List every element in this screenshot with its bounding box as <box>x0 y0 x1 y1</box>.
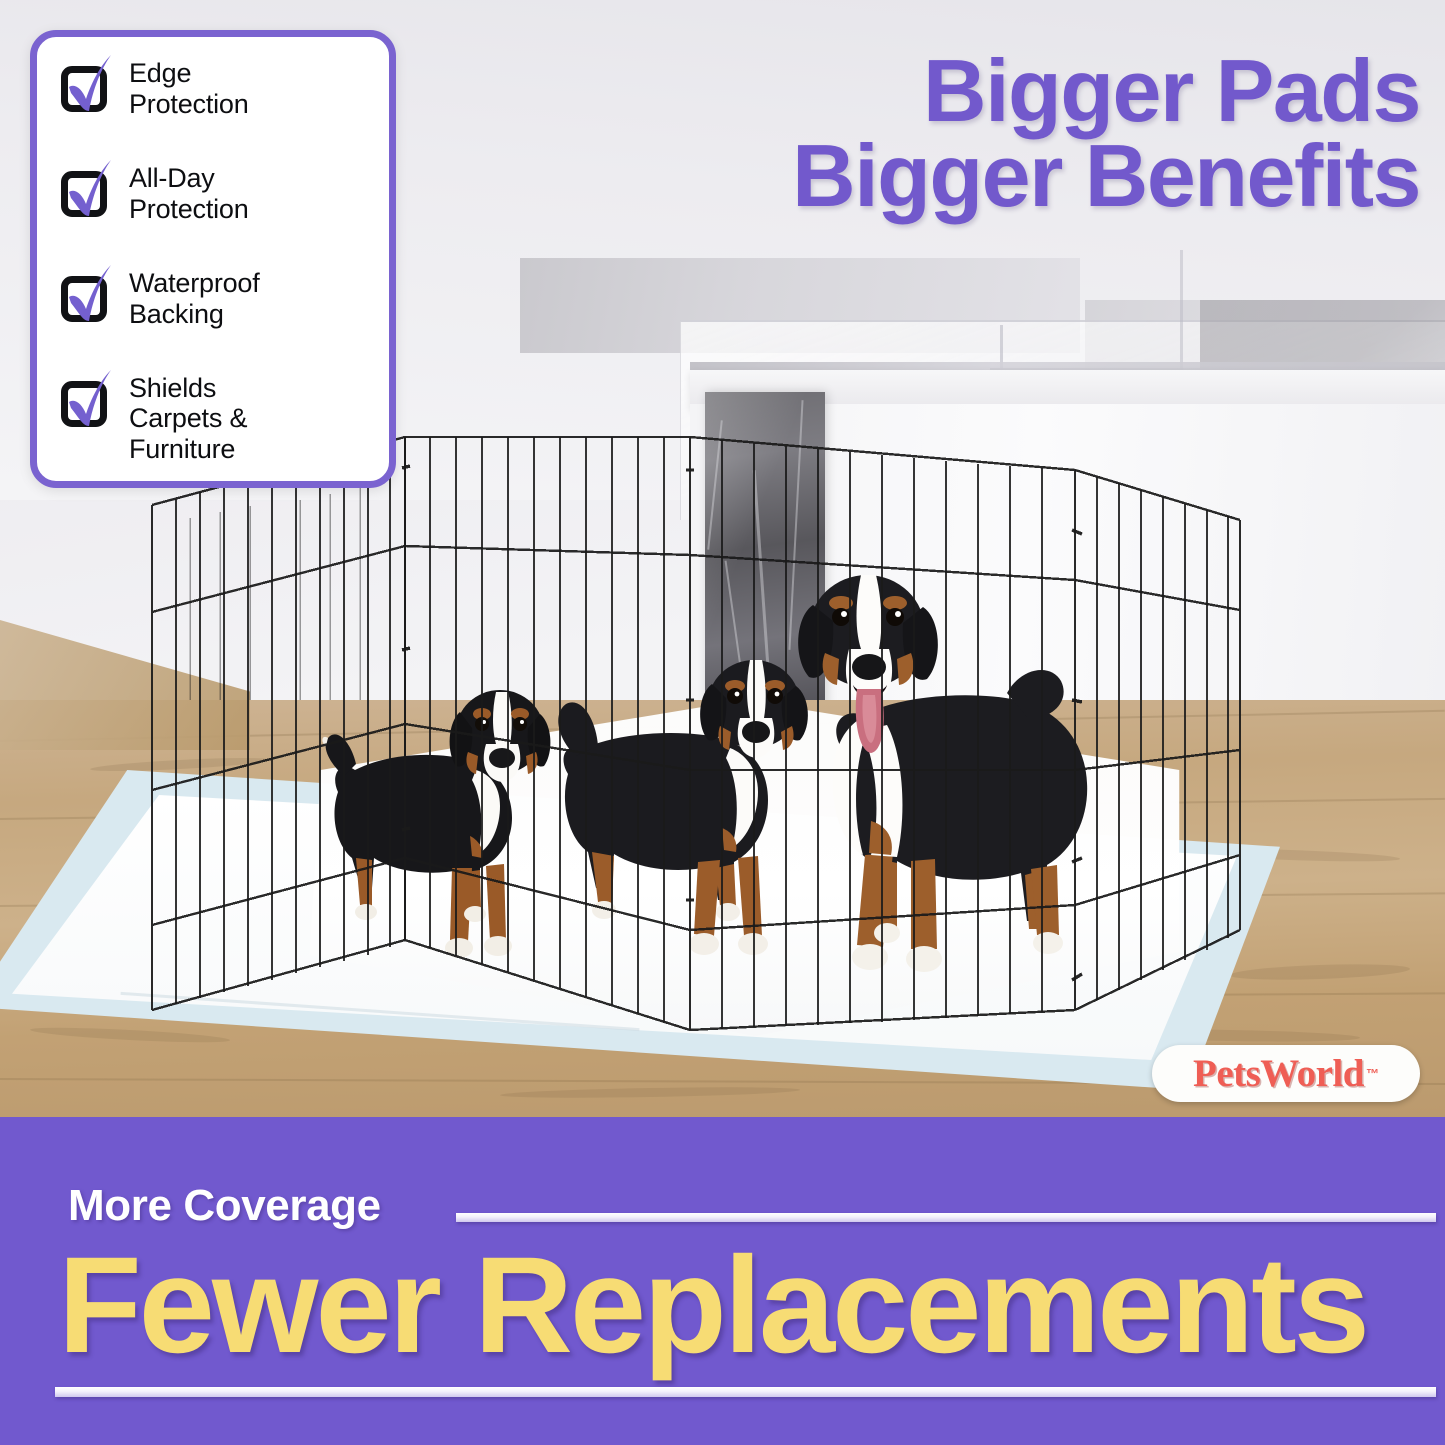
banner-divider-bottom <box>55 1387 1436 1397</box>
banner-headline: Fewer Replacements <box>58 1237 1445 1374</box>
feature-label: Waterproof Backing <box>129 267 260 330</box>
brand-logo: PetsWorld™ <box>1152 1045 1420 1102</box>
checkbox-checked-icon <box>57 59 115 117</box>
page-title: Bigger Pads Bigger Benefits <box>470 48 1420 219</box>
feature-item: Edge Protection <box>57 57 375 120</box>
banner-divider-top <box>456 1213 1436 1222</box>
product-photo-scene: Edge Protection All-Day Protection <box>0 0 1445 1120</box>
product-listing-image: Edge Protection All-Day Protection <box>0 0 1445 1445</box>
feature-item: Waterproof Backing <box>57 267 375 330</box>
checkbox-checked-icon <box>57 164 115 222</box>
feature-item: Shields Carpets & Furniture <box>57 372 375 465</box>
brand-name: PetsWorld <box>1193 1051 1364 1096</box>
feature-label: Shields Carpets & Furniture <box>129 372 247 465</box>
headline-line-2: Bigger Benefits <box>470 133 1420 218</box>
feature-label: All-Day Protection <box>129 162 249 225</box>
trademark-symbol: ™ <box>1366 1066 1379 1081</box>
checkbox-checked-icon <box>57 374 115 432</box>
checkbox-checked-icon <box>57 269 115 327</box>
feature-label: Edge Protection <box>129 57 249 120</box>
feature-benefits-card: Edge Protection All-Day Protection <box>30 30 396 488</box>
feature-item: All-Day Protection <box>57 162 375 225</box>
headline-line-1: Bigger Pads <box>923 41 1420 140</box>
banner-kicker: More Coverage <box>68 1181 381 1231</box>
